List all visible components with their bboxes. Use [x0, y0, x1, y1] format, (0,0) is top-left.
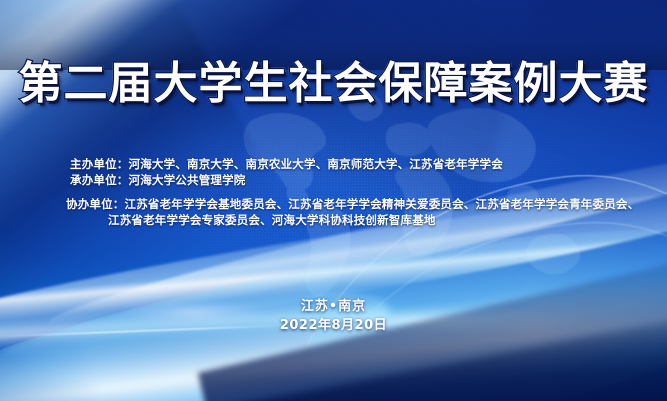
poster-title: 第二届大学生社会保障案例大赛	[0, 62, 667, 106]
organizer-line-undertaker: 承办单位：河海大学公共管理学院	[40, 172, 627, 188]
event-location: 江苏•南京	[0, 298, 667, 316]
event-poster: 第二届大学生社会保障案例大赛 主办单位：河海大学、南京大学、南京农业大学、南京师…	[0, 0, 667, 401]
organizer-spacer	[40, 189, 627, 196]
event-date: 2022年8月20日	[0, 316, 667, 336]
organizer-line-host: 主办单位：河海大学、南京大学、南京农业大学、南京师范大学、江苏省老年学学会	[40, 156, 627, 172]
organizer-line-coorganizer-1: 协办单位：江苏省老年学学会基地委员会、江苏省老年学学会精神关爱委员会、江苏省老年…	[40, 196, 627, 212]
poster-content: 第二届大学生社会保障案例大赛 主办单位：河海大学、南京大学、南京农业大学、南京师…	[0, 0, 667, 401]
poster-footer: 江苏•南京 2022年8月20日	[0, 298, 667, 336]
poster-title-text: 第二届大学生社会保障案例大赛	[19, 62, 649, 106]
organizer-block: 主办单位：河海大学、南京大学、南京农业大学、南京师范大学、江苏省老年学学会 承办…	[0, 156, 667, 229]
organizer-line-coorganizer-2: 江苏省老年学学会专家委员会、河海大学科协科技创新智库基地	[40, 212, 627, 228]
